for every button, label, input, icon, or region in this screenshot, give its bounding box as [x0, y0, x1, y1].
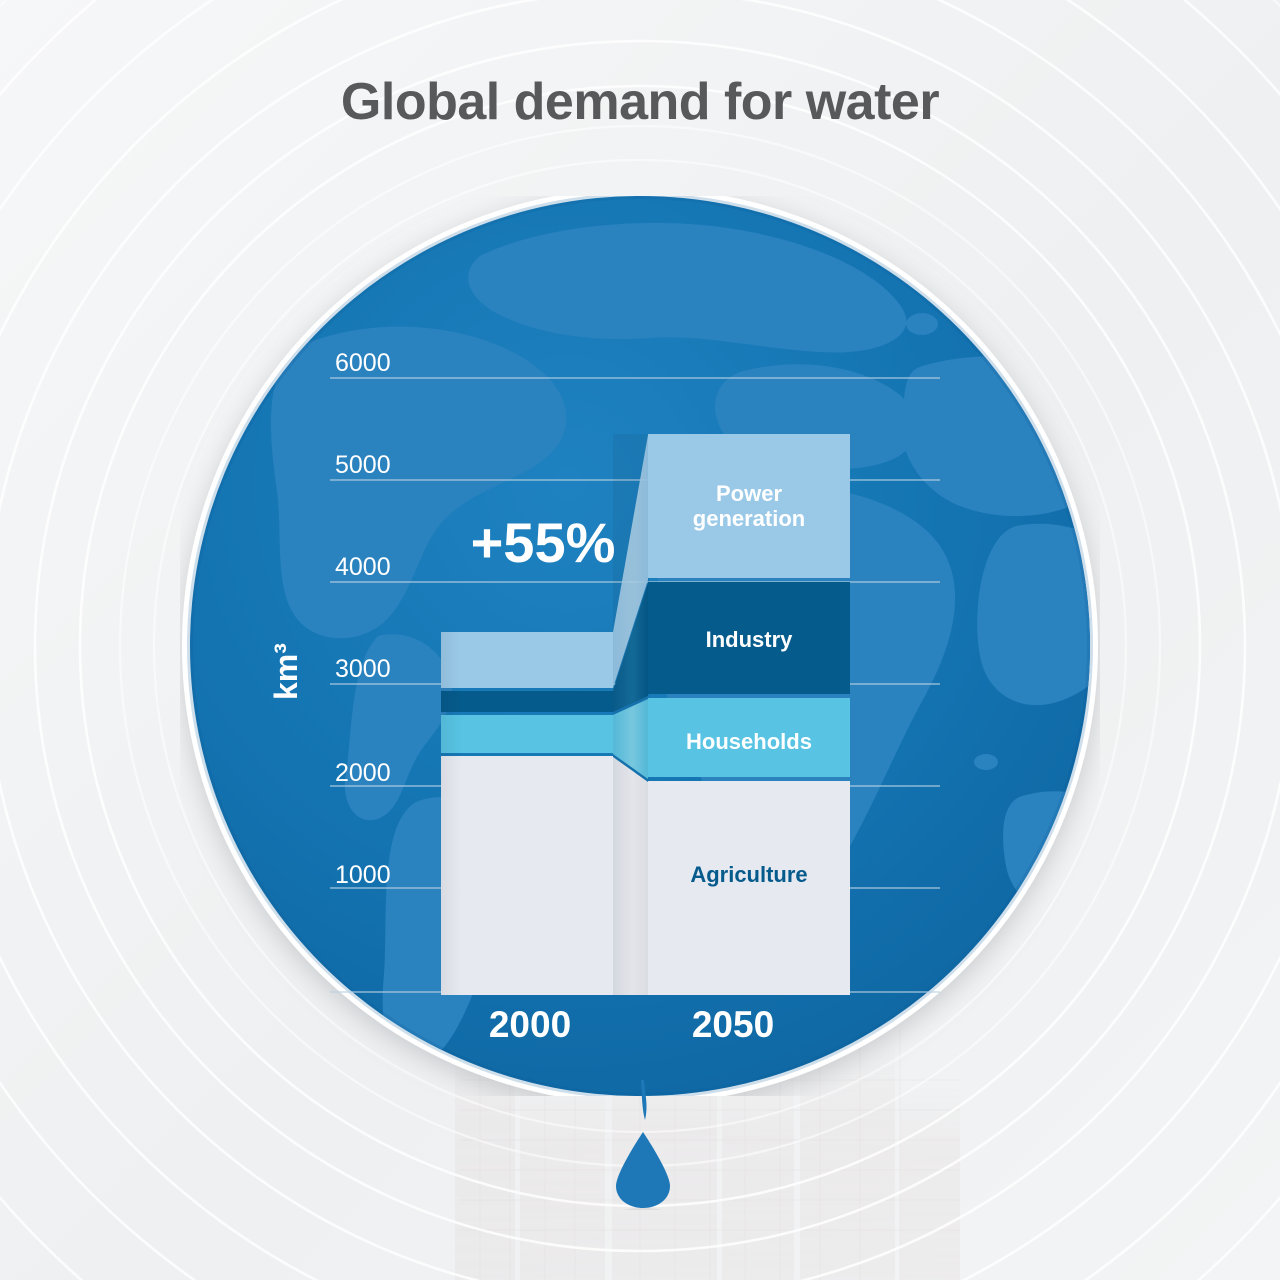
page-title: Global demand for water [0, 72, 1280, 132]
water-drop-icon [600, 1080, 690, 1210]
globe-graphic [180, 196, 1100, 1096]
infographic-canvas: Global demand for water [0, 0, 1280, 1280]
